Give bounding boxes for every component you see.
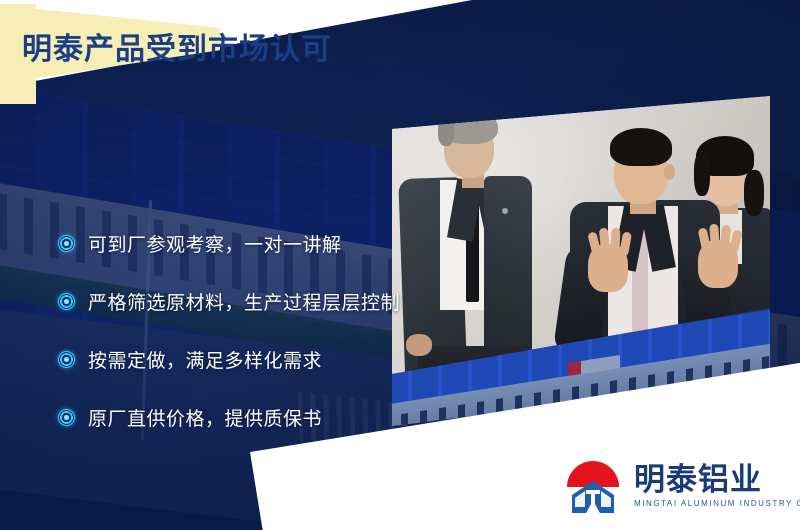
person-right-ponytail	[744, 170, 764, 216]
list-item-label: 原厂直供价格，提供质保书	[88, 404, 322, 431]
finger	[709, 224, 720, 249]
logo-chinese-name: 明泰铝业	[634, 463, 800, 497]
feature-list: 可到厂参观考察，一对一讲解 严格筛选原材料，生产过程层层控制 按需定做，满足多样…	[58, 214, 400, 446]
promotional-banner: 明泰产品受到市场认可 可到厂参观考察，一对一讲解 严格筛选原材料，生产过程层层控…	[0, 0, 800, 530]
target-circle-icon	[58, 409, 75, 426]
person-left-lapel-pin	[502, 208, 508, 214]
target-circle-icon	[58, 235, 75, 252]
target-circle-icon	[58, 351, 75, 368]
list-item: 原厂直供价格，提供质保书	[58, 388, 400, 446]
mingtai-sun-mountain-icon	[556, 457, 630, 515]
target-circle-icon	[58, 293, 75, 310]
logo-text-block: 明泰铝业 MINGTAI ALUMINUM INDUSTRY CO., LTD	[634, 463, 800, 510]
list-item: 可到厂参观考察，一对一讲解	[58, 214, 400, 272]
list-item: 严格筛选原材料，生产过程层层控制	[58, 272, 400, 330]
company-logo: 明泰铝业 MINGTAI ALUMINUM INDUSTRY CO., LTD	[556, 455, 796, 517]
person-left-hand	[406, 334, 432, 356]
person-center-hair	[610, 128, 672, 166]
list-item: 按需定做，满足多样化需求	[58, 330, 400, 388]
logo-english-name: MINGTAI ALUMINUM INDUSTRY CO., LTD	[634, 498, 800, 510]
list-item-label: 按需定做，满足多样化需求	[88, 346, 322, 373]
list-item-label: 可到厂参观考察，一对一讲解	[88, 230, 342, 257]
list-item-label: 严格筛选原材料，生产过程层层控制	[88, 288, 400, 315]
person-center-ear	[664, 164, 675, 180]
finger	[611, 228, 621, 252]
page-title: 明泰产品受到市场认可	[22, 24, 332, 68]
person-right-hair-side	[694, 152, 710, 196]
